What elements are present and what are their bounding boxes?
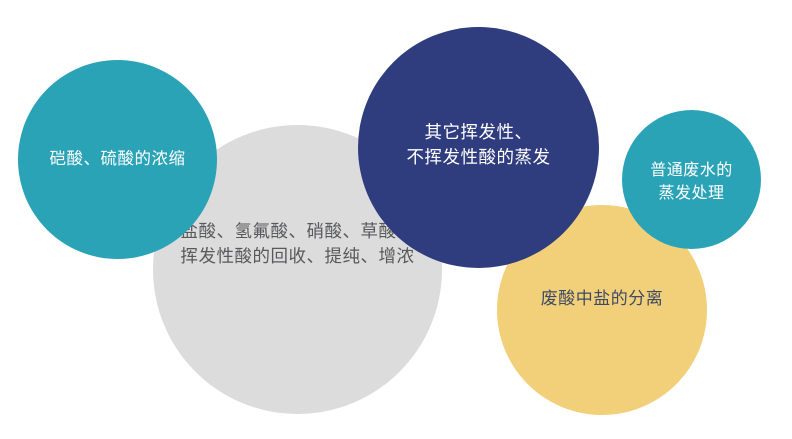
bubble-label-other-acid-evaporation: 其它挥发性、 不挥发性酸的蒸发 — [407, 120, 551, 170]
bubble-label-wastewater-evaporation: 普通废水的 蒸发处理 — [650, 160, 733, 205]
bubble-label-volatile-acid-recovery: 盐酸、氢氟酸、硝酸、草酸等 挥发性酸的回收、提纯、增浓 — [181, 219, 415, 269]
bubble-label-acid-concentration: 硙酸、硫酸的浓缩 — [50, 148, 186, 171]
bubble-label-salt-separation: 废酸中盐的分离 — [541, 287, 664, 311]
bubble-wastewater-evaporation[interactable]: 普通废水的 蒸发处理 — [622, 110, 761, 249]
bubble-diagram-canvas: 盐酸、氢氟酸、硝酸、草酸等 挥发性酸的回收、提纯、增浓 硙酸、硫酸的浓缩 废酸中… — [0, 0, 792, 439]
bubble-other-acid-evaporation[interactable]: 其它挥发性、 不挥发性酸的蒸发 — [358, 27, 599, 268]
bubble-acid-concentration[interactable]: 硙酸、硫酸的浓缩 — [18, 60, 217, 259]
